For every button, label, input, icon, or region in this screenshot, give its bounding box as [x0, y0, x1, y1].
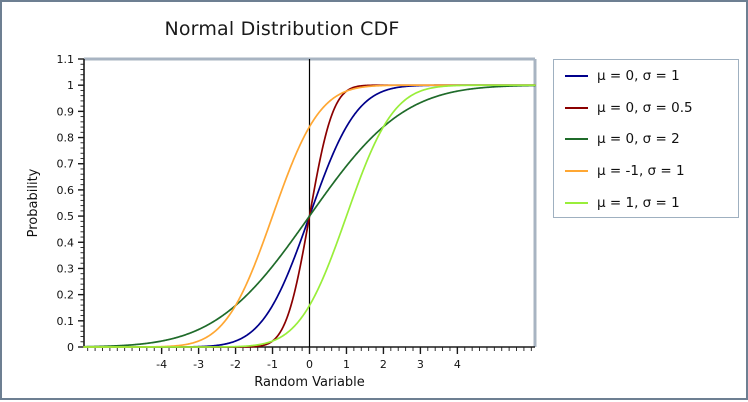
x-tick-label: -4 — [156, 358, 167, 371]
legend-item-mu-neg1-sigma1[interactable]: μ = -1, σ = 1 — [554, 155, 738, 187]
y-tick-label: 0.8 — [57, 132, 75, 145]
legend-swatch-icon — [565, 107, 588, 109]
legend-item-mu0-sigma2[interactable]: μ = 0, σ = 2 — [554, 124, 738, 156]
legend-swatch-icon — [565, 170, 588, 172]
x-tick-label: -2 — [230, 358, 241, 371]
y-tick-label: 0 — [67, 341, 74, 354]
x-tick-label: 3 — [417, 358, 424, 371]
legend-item-label: μ = -1, σ = 1 — [597, 163, 685, 179]
x-tick-label: 2 — [380, 358, 387, 371]
y-tick-label: 1 — [67, 79, 74, 92]
legend-item-label: μ = 0, σ = 2 — [597, 131, 680, 147]
chart-figure: Normal Distribution CDF -4-3-2-10123400.… — [0, 0, 748, 400]
y-tick-label: 0.1 — [57, 315, 75, 328]
y-axis-title: Probability — [26, 168, 41, 237]
y-tick-label: 0.3 — [57, 262, 75, 275]
y-tick-label: 0.6 — [57, 184, 75, 197]
legend-item-label: μ = 0, σ = 0.5 — [597, 100, 693, 116]
y-tick-label: 0.9 — [57, 105, 75, 118]
y-tick-label: 0.4 — [57, 236, 75, 249]
x-tick-label: 0 — [306, 358, 313, 371]
x-axis-title: Random Variable — [254, 375, 365, 390]
legend-item-label: μ = 1, σ = 1 — [597, 195, 680, 211]
y-tick-label: 0.2 — [57, 289, 75, 302]
legend-item-label: μ = 0, σ = 1 — [597, 68, 680, 84]
legend-swatch-icon — [565, 75, 588, 77]
y-tick-label: 1.1 — [57, 53, 75, 66]
legend-item-mu0-sigma1[interactable]: μ = 0, σ = 1 — [554, 60, 738, 92]
y-tick-label: 0.5 — [57, 210, 75, 223]
legend-swatch-icon — [565, 202, 588, 204]
x-tick-label: 1 — [343, 358, 350, 371]
legend-item-mu1-sigma1[interactable]: μ = 1, σ = 1 — [554, 187, 738, 219]
y-tick-label: 0.7 — [57, 158, 75, 171]
legend-swatch-icon — [565, 138, 588, 140]
x-tick-label: -3 — [193, 358, 204, 371]
legend-item-mu0-sigma05[interactable]: μ = 0, σ = 0.5 — [554, 92, 738, 124]
x-tick-label: -1 — [267, 358, 278, 371]
chart-legend: μ = 0, σ = 1μ = 0, σ = 0.5μ = 0, σ = 2μ … — [553, 59, 739, 218]
x-tick-label: 4 — [454, 358, 461, 371]
